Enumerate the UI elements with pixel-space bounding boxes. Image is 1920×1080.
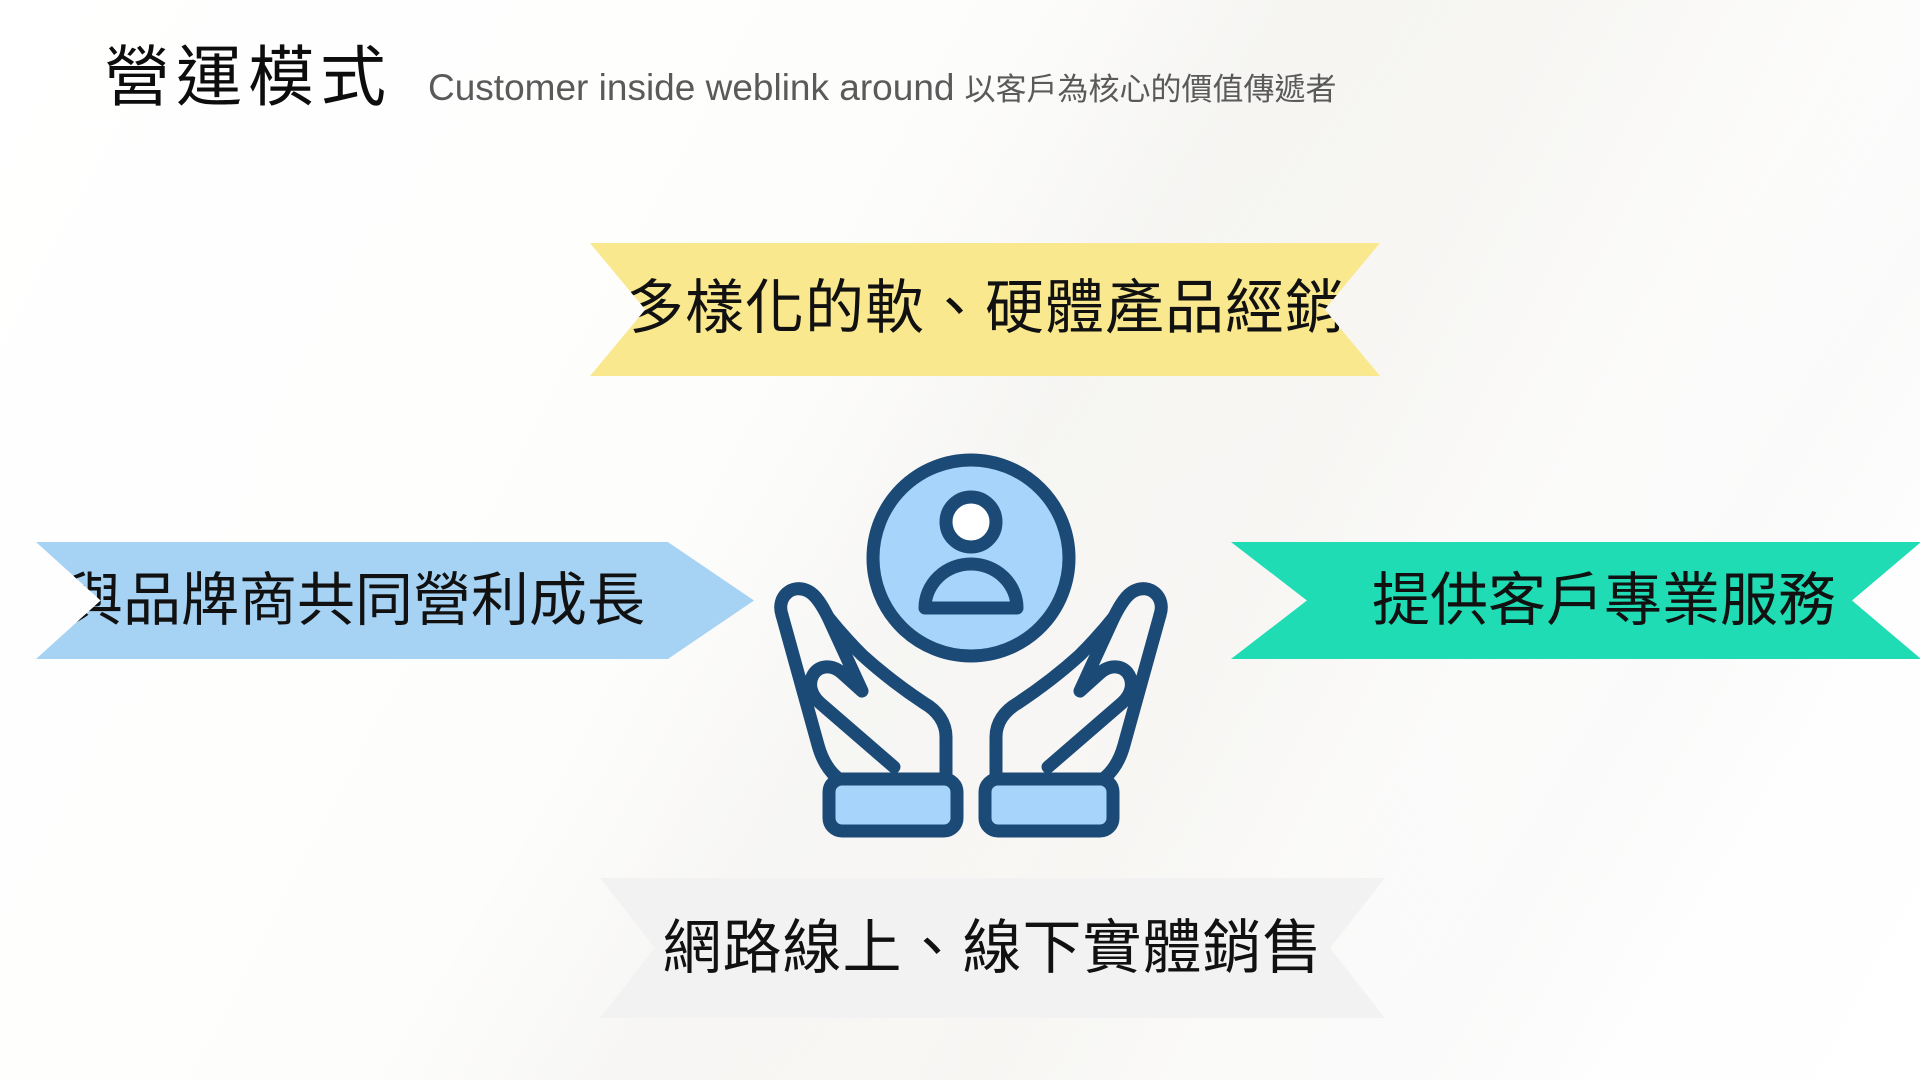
ribbon-right-label: 提供客戶專業服務: [1231, 572, 1920, 630]
avatar-body-icon: [925, 564, 1017, 608]
slide-header: 營運模式 Customer inside weblink around 以客戶為…: [104, 44, 1337, 110]
avatar-head-icon: [946, 497, 996, 547]
slide-canvas: 營運模式 Customer inside weblink around 以客戶為…: [0, 0, 1920, 1080]
ribbon-bottom-online-offline-sales[interactable]: 網路線上、線下實體銷售: [600, 878, 1385, 1018]
left-cuff: [829, 779, 957, 831]
hands-holding-customer-icon: [766, 445, 1176, 855]
ribbon-top-label: 多樣化的軟、硬體產品經銷: [590, 279, 1380, 338]
ribbon-top-product-distribution[interactable]: 多樣化的軟、硬體產品經銷: [590, 243, 1380, 376]
right-cuff: [985, 779, 1113, 831]
ribbon-right-professional-service[interactable]: 提供客戶專業服務: [1231, 542, 1920, 659]
hands-holding-customer-svg: [766, 445, 1176, 855]
page-subtitle-en: Customer inside weblink around: [428, 69, 955, 106]
ribbon-left-brand-growth[interactable]: 與品牌商共同營利成長: [36, 542, 754, 659]
page-subtitle-cn: 以客戶為核心的價值傳遞者: [965, 64, 1337, 109]
ribbon-bottom-label: 網路線上、線下實體銷售: [600, 919, 1385, 978]
page-title: 營運模式: [104, 44, 392, 110]
ribbon-left-label: 與品牌商共同營利成長: [36, 572, 754, 630]
